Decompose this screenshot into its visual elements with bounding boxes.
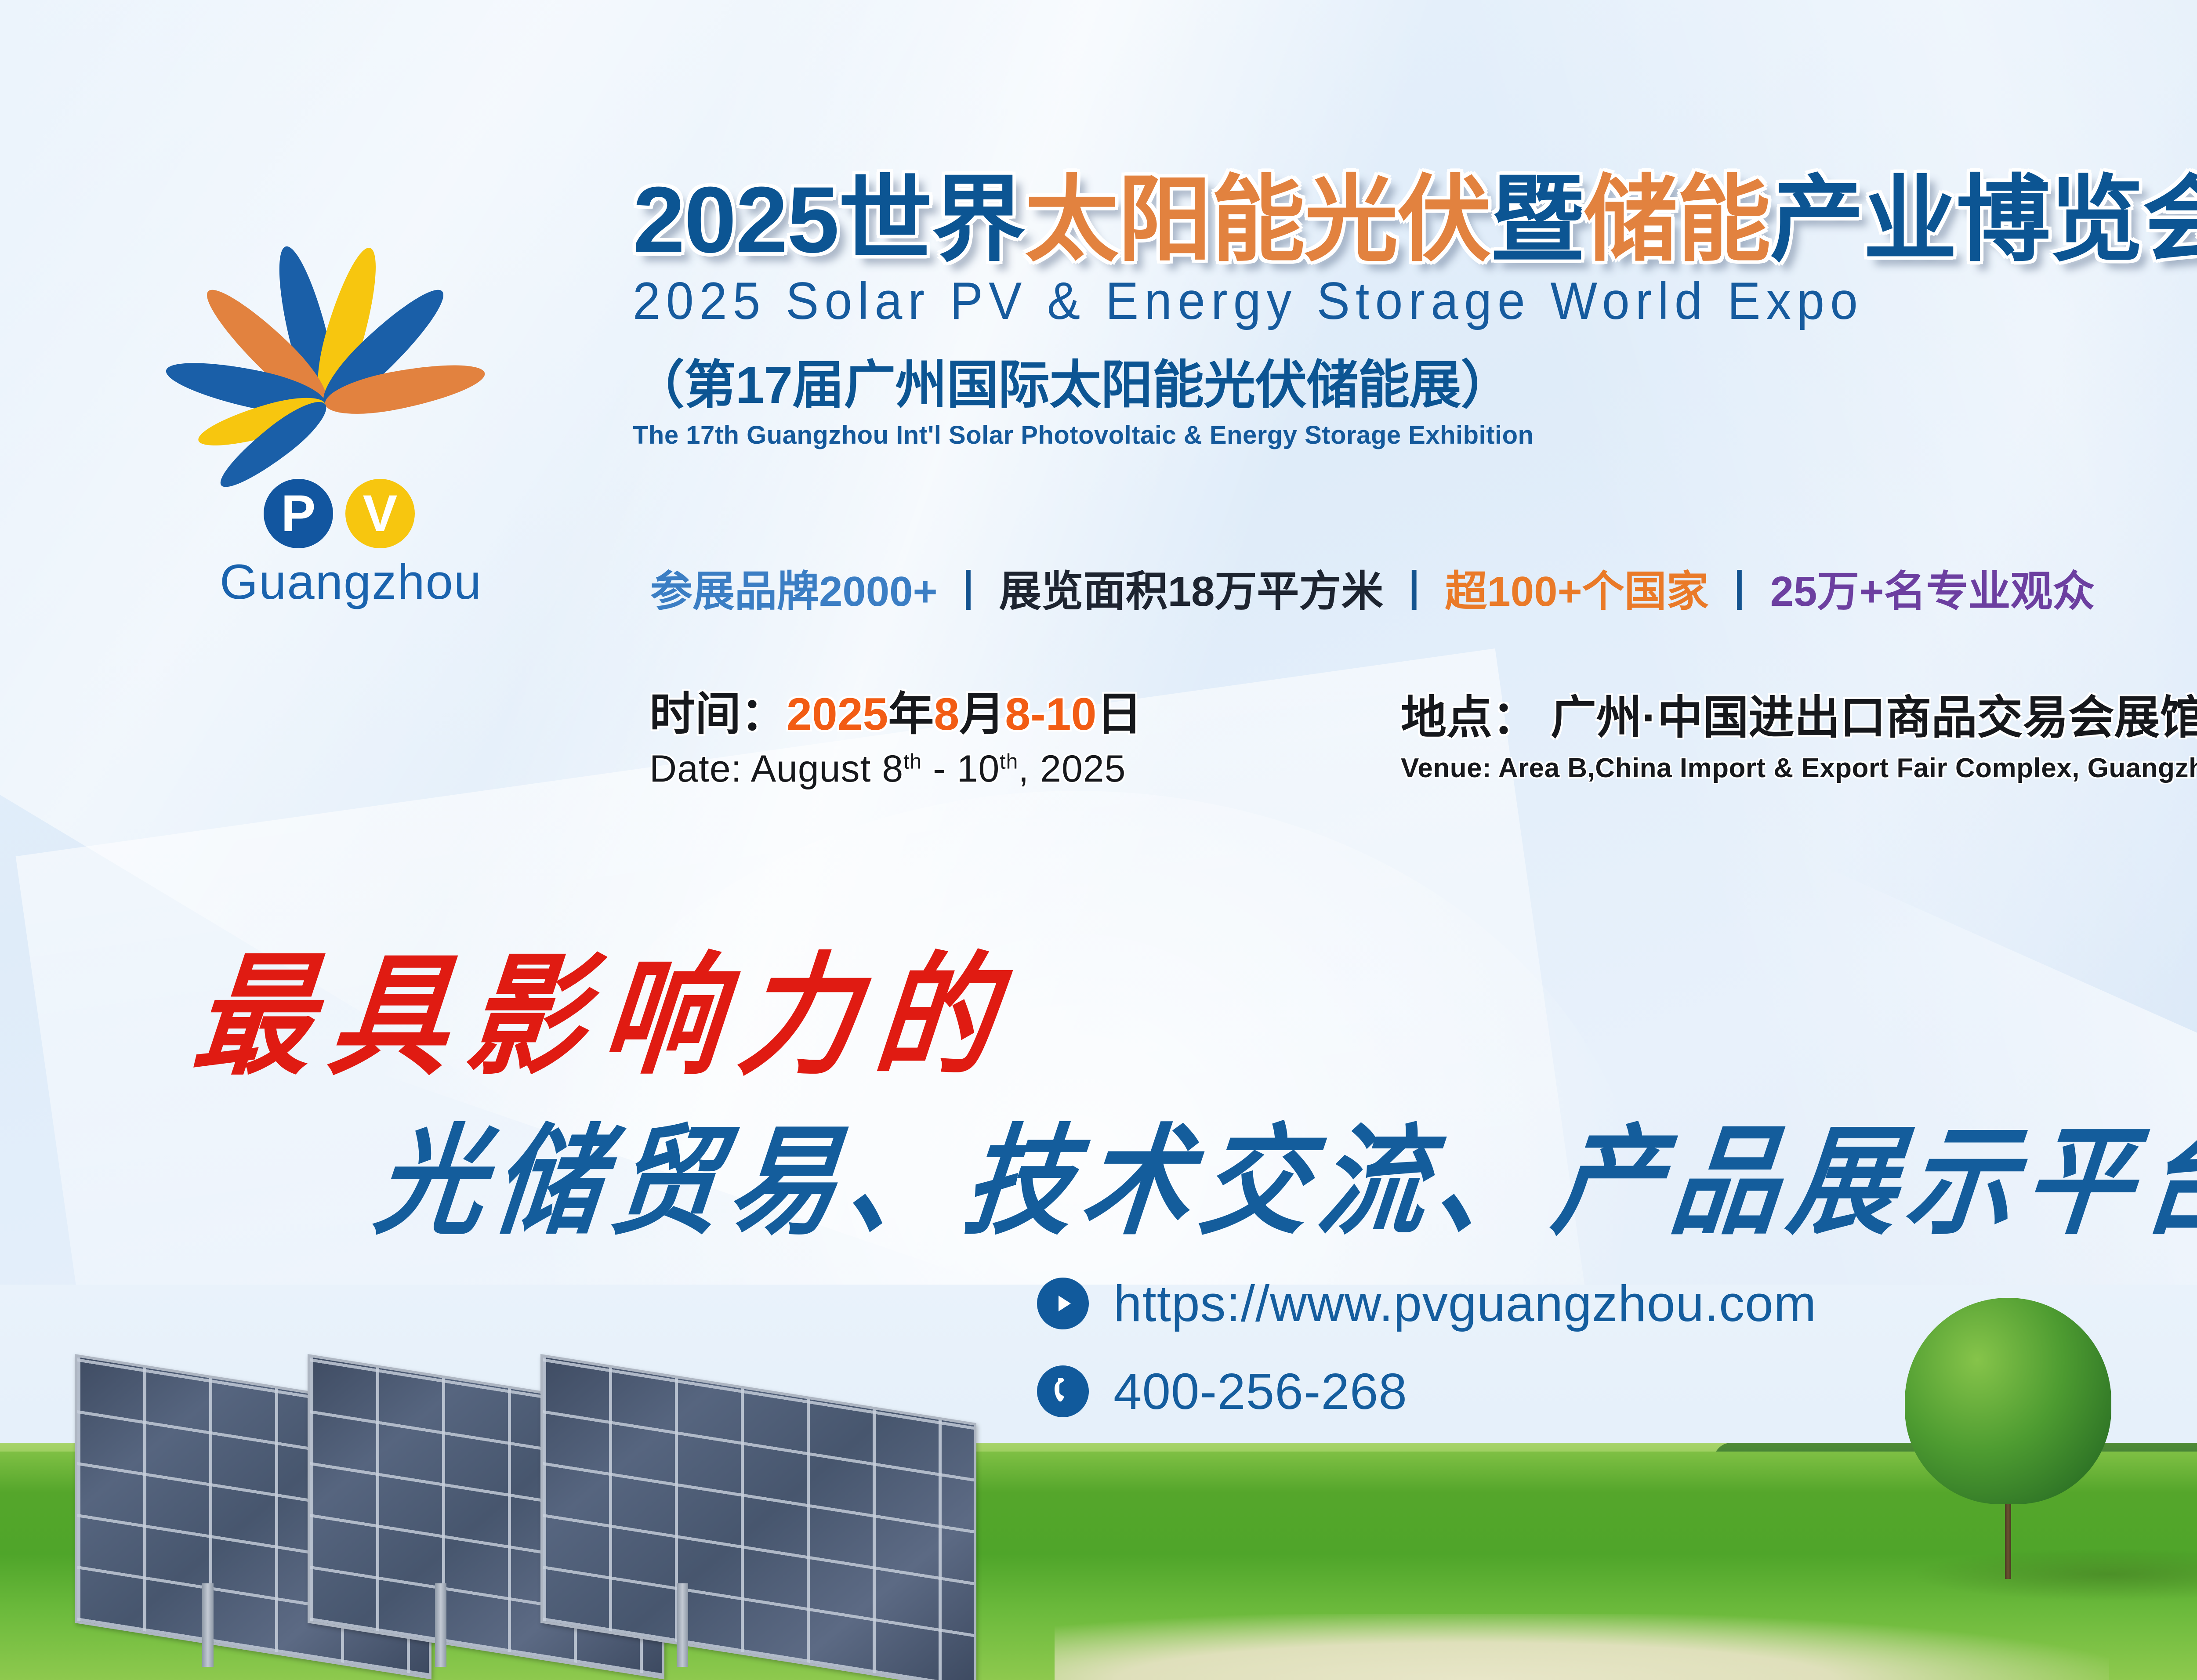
play-triangle-icon	[1037, 1278, 1089, 1329]
date-year-unit: 年	[888, 689, 934, 740]
date-days: 8-10	[1005, 689, 1096, 740]
date-year: 2025	[787, 689, 888, 740]
main-title-cn: 2025世界太阳能光伏暨储能产业博览会	[633, 172, 2197, 268]
title-part-3: 暨	[1490, 167, 1584, 272]
subtitle-en: The 17th Guangzhou Int'l Solar Photovolt…	[633, 420, 2197, 450]
stat-separator: 丨	[1393, 557, 1435, 618]
slogan-line-1: 最具影响力的	[186, 909, 1024, 1101]
poster-root: P V Guangzhou 2025世界太阳能光伏暨储能产业博览会 2025 S…	[0, 0, 2197, 1680]
date-en: Date: August 8th - 10th, 2025	[649, 747, 1142, 791]
main-title-en: 2025 Solar PV & Energy Storage World Exp…	[633, 271, 2139, 331]
solar-panel-array	[26, 1324, 1037, 1667]
date-month: 8	[934, 689, 959, 740]
panel-leg	[202, 1583, 214, 1667]
date-en-ordinal-1: th	[903, 750, 922, 773]
logo-wordmark: Guangzhou	[220, 554, 482, 610]
stat-brands: 参展品牌2000+	[650, 557, 938, 618]
title-part-1: 2025世界	[633, 167, 1025, 272]
panel-cells	[543, 1357, 974, 1680]
date-en-suffix: , 2025	[1018, 748, 1126, 790]
phone-row[interactable]: 400-256-268	[1037, 1362, 1816, 1421]
website-row[interactable]: https://www.pvguangzhou.com	[1037, 1274, 1816, 1333]
date-cn: 时间：2025年8月8-10日	[649, 677, 1142, 743]
date-block: 时间：2025年8月8-10日 Date: August 8th - 10th,…	[649, 677, 1142, 791]
subtitle-cn: （第17届广州国际太阳能光伏储能展）	[633, 343, 2197, 418]
title-part-4: 储能	[1584, 167, 1770, 272]
date-day-unit: 日	[1096, 689, 1142, 740]
stat-area: 展览面积18万平方米	[999, 557, 1384, 618]
date-en-mid: - 10	[922, 748, 1000, 790]
panel-leg	[677, 1583, 688, 1667]
venue-en: Venue: Area B,China Import & Export Fair…	[1401, 753, 2197, 784]
stat-visitors: 25万+名专业观众	[1770, 557, 2095, 618]
stat-separator: 丨	[1718, 557, 1761, 618]
stat-separator: 丨	[947, 557, 990, 618]
stats-strip: 参展品牌2000+ 丨 展览面积18万平方米 丨 超100+个国家 丨 25万+…	[650, 557, 2095, 618]
pv-guangzhou-logo: P V Guangzhou	[53, 176, 598, 633]
contact-block: https://www.pvguangzhou.com 400-256-268	[1037, 1274, 1816, 1450]
telephone-handset-icon	[1037, 1365, 1089, 1417]
logo-p-badge: P	[264, 479, 333, 548]
phone-text[interactable]: 400-256-268	[1113, 1362, 1407, 1421]
stat-countries: 超100+个国家	[1445, 557, 1708, 618]
slogan-line-2: 光储贸易、技术交流、产品展示平台！	[369, 1085, 2197, 1257]
venue-cn: 地点： 广州·中国进出口商品交易会展馆B区	[1401, 680, 2197, 746]
date-en-ordinal-2: th	[1000, 750, 1018, 773]
date-en-prefix: Date: August 8	[649, 748, 903, 790]
venue-block: 地点： 广州·中国进出口商品交易会展馆B区 Venue: Area B,Chin…	[1401, 680, 2197, 784]
date-month-unit: 月	[959, 689, 1005, 740]
logo-v-badge: V	[345, 479, 415, 548]
date-label: 时间：	[649, 689, 787, 740]
solar-panel	[540, 1354, 976, 1680]
logo-pv-badges: P V	[264, 479, 415, 548]
panel-leg	[435, 1583, 446, 1667]
tree	[1894, 1298, 2122, 1579]
headline-block: 2025世界太阳能光伏暨储能产业博览会 2025 Solar PV & Ener…	[633, 172, 2197, 450]
tree-crown	[1905, 1298, 2111, 1504]
dirt-path	[1055, 1614, 2109, 1680]
website-text[interactable]: https://www.pvguangzhou.com	[1113, 1274, 1816, 1333]
title-part-2: 太阳能光伏	[1025, 167, 1490, 272]
title-part-5: 产业博览会	[1770, 167, 2197, 272]
